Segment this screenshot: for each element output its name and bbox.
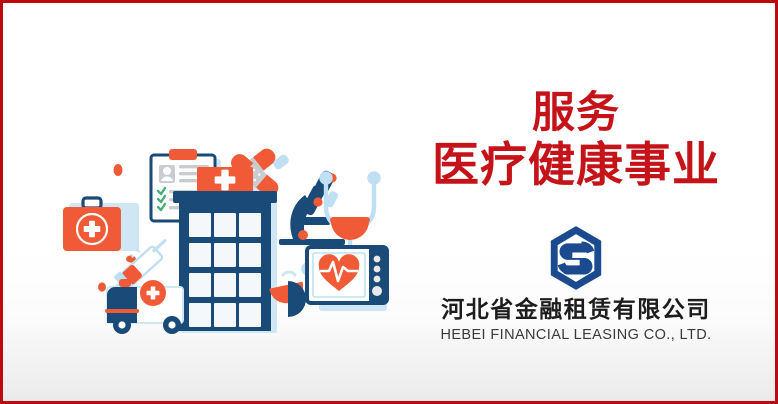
hospital-building (173, 167, 277, 331)
stethoscope-chestpiece (330, 217, 370, 240)
page-title: 服务 医疗健康事业 (401, 91, 751, 190)
medical-illustration (21, 99, 401, 351)
company-name-cn: 河北省金融租赁有限公司 (401, 297, 751, 323)
headline-line-2: 医疗健康事业 (401, 141, 751, 191)
headline-line-1: 服务 (401, 91, 751, 137)
heart-rate-monitor (307, 247, 387, 303)
brand-block: 河北省金融租赁有限公司 HEBEI FINANCIAL LEASING CO.,… (401, 225, 751, 343)
poster-canvas: 服务 医疗健康事业 河北省金融租赁有限公司 HEBEI FINANCIAL LE… (0, 0, 778, 404)
microscope (279, 169, 345, 245)
company-name-en: HEBEI FINANCIAL LEASING CO., LTD. (401, 327, 751, 343)
ambulance (105, 279, 183, 334)
company-logo-icon (539, 225, 613, 291)
